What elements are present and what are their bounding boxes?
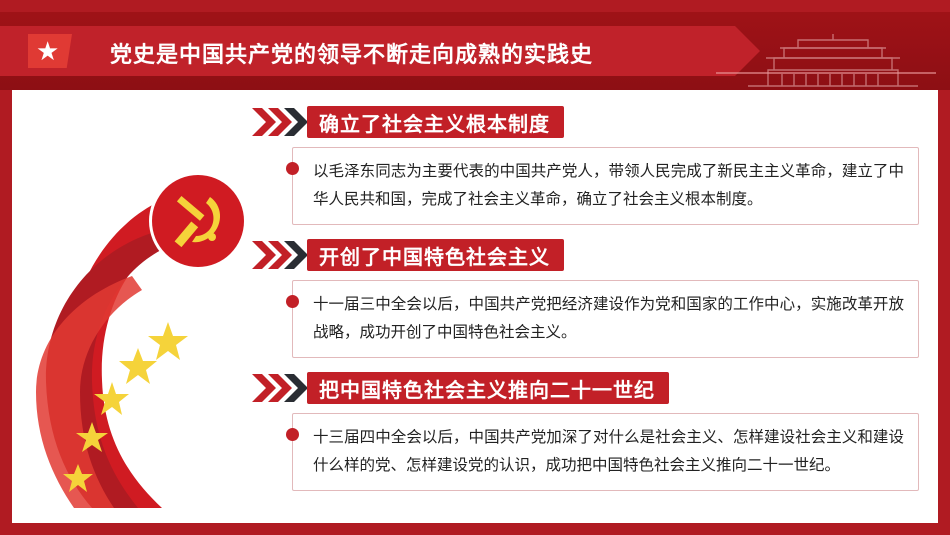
section-3-header: 把中国特色社会主义推向二十一世纪 <box>252 372 927 406</box>
page-title: 党史是中国共产党的领导不断走向成熟的实践史 <box>110 37 593 69</box>
section-1-text: 以毛泽东同志为主要代表的中国共产党人，带领人民完成了新民主主义革命，建立了中华人… <box>313 158 904 214</box>
section-3-text: 十三届四中全会以后，中国共产党加深了对什么是社会主义、怎样建设社会主义和建设什么… <box>313 424 904 480</box>
section-3-paragraph-box: 十三届四中全会以后，中国共产党加深了对什么是社会主义、怎样建设社会主义和建设什么… <box>292 413 919 491</box>
double-chevron-right-icon <box>252 241 312 269</box>
sections-container: 确立了社会主义根本制度 以毛泽东同志为主要代表的中国共产党人，带领人民完成了新民… <box>252 104 927 519</box>
frame-bottom <box>0 523 950 535</box>
section-2: 开创了中国特色社会主义 十一届三中全会以后，中国共产党把经济建设作为党和国家的工… <box>252 239 927 358</box>
section-2-title-bar: 开创了中国特色社会主义 <box>307 239 564 271</box>
double-chevron-right-icon <box>252 374 312 402</box>
section-2-text: 十一届三中全会以后，中国共产党把经济建设作为党和国家的工作中心，实施改革开放战略… <box>313 291 904 347</box>
party-emblem-hammer-sickle-icon <box>152 175 244 267</box>
double-chevron-right-icon <box>252 108 312 136</box>
slide-header: ★ 党史是中国共产党的领导不断走向成熟的实践史 <box>0 12 950 90</box>
slide: ★ 党史是中国共产党的领导不断走向成熟的实践史 <box>0 0 950 535</box>
emblem-decoration <box>22 130 252 510</box>
bullet-dot-icon <box>286 428 299 441</box>
section-1-title: 确立了社会主义根本制度 <box>319 108 550 137</box>
section-3-title-bar: 把中国特色社会主义推向二十一世纪 <box>307 372 669 404</box>
bullet-dot-icon <box>286 162 299 175</box>
section-2-paragraph-box: 十一届三中全会以后，中国共产党把经济建设作为党和国家的工作中心，实施改革开放战略… <box>292 280 919 358</box>
header-decor-line <box>716 72 936 74</box>
star-icon: ★ <box>36 38 59 64</box>
section-1-header: 确立了社会主义根本制度 <box>252 106 927 140</box>
section-3-title: 把中国特色社会主义推向二十一世纪 <box>319 374 655 403</box>
bullet-dot-icon <box>286 295 299 308</box>
content-card: 确立了社会主义根本制度 以毛泽东同志为主要代表的中国共产党人，带领人民完成了新民… <box>12 90 938 523</box>
section-1-paragraph-box: 以毛泽东同志为主要代表的中国共产党人，带领人民完成了新民主主义革命，建立了中华人… <box>292 147 919 225</box>
section-1: 确立了社会主义根本制度 以毛泽东同志为主要代表的中国共产党人，带领人民完成了新民… <box>252 106 927 225</box>
section-2-title: 开创了中国特色社会主义 <box>319 241 550 270</box>
tiananmen-icon <box>738 30 928 88</box>
frame-top <box>0 0 950 12</box>
section-1-title-bar: 确立了社会主义根本制度 <box>307 106 564 138</box>
section-3: 把中国特色社会主义推向二十一世纪 十三届四中全会以后，中国共产党加深了对什么是社… <box>252 372 927 491</box>
section-2-header: 开创了中国特色社会主义 <box>252 239 927 273</box>
